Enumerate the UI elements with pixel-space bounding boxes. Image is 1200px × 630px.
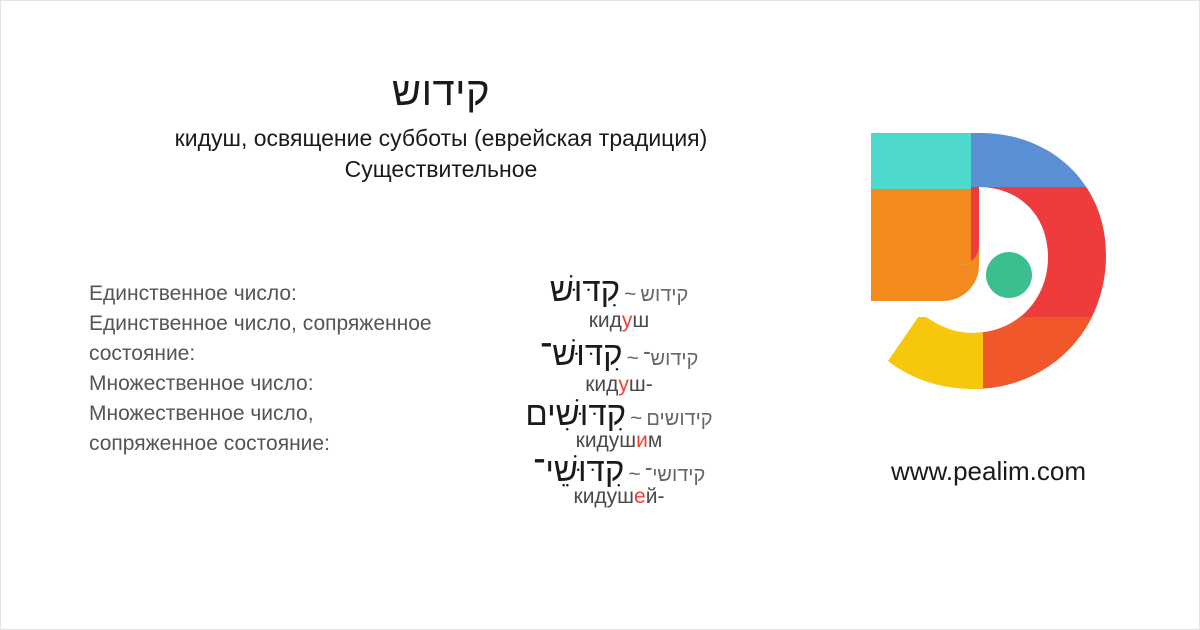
form-separator: ~ bbox=[624, 463, 644, 486]
form-separator: ~ bbox=[623, 347, 643, 370]
form-plain: קידושי־ bbox=[645, 464, 706, 486]
form-row-singular: קִדּוּשׁ~קידוש кидуш bbox=[439, 271, 799, 323]
card-header: קידוש кидуш, освящение субботы (еврейска… bbox=[121, 67, 761, 185]
translit-stressed-vowel: и bbox=[636, 429, 648, 452]
brand-url: www.pealim.com bbox=[846, 456, 1131, 487]
form-row-plural: קִדּוּשִׁים~קידושים кидушим bbox=[439, 395, 799, 457]
form-transliteration: кидушим bbox=[576, 429, 663, 452]
form-pointed: קִדּוּשׁ־ bbox=[540, 335, 623, 372]
translit-pre: кид bbox=[585, 373, 618, 396]
logo-segment-teal bbox=[863, 127, 971, 197]
translit-post: ш bbox=[632, 309, 649, 332]
page-title-hebrew: קידוש bbox=[121, 67, 761, 117]
form-transliteration: кидушей- bbox=[574, 485, 665, 508]
logo-dot-green bbox=[986, 252, 1032, 298]
translit-pre: кидуш bbox=[574, 485, 635, 508]
form-pointed: קִדּוּשֵׁי־ bbox=[533, 451, 625, 488]
form-transliteration: кидуш- bbox=[585, 373, 653, 396]
translit-post: й- bbox=[646, 485, 665, 508]
translit-pre: кидуш bbox=[576, 429, 637, 452]
form-plain: קידושים bbox=[646, 408, 712, 430]
translit-stressed-vowel: у bbox=[618, 373, 629, 396]
form-separator: ~ bbox=[626, 407, 646, 430]
form-plain: קידוש bbox=[640, 284, 688, 306]
form-transliteration: кидуш bbox=[589, 309, 650, 332]
part-of-speech: Существительное bbox=[121, 154, 761, 185]
translit-post: м bbox=[648, 429, 662, 452]
translit-stressed-vowel: е bbox=[634, 485, 646, 508]
logo-segment-yellow bbox=[863, 317, 983, 397]
form-label-plural-construct: Множественное число, сопряженное состоян… bbox=[89, 399, 439, 459]
translit-pre: кид bbox=[589, 309, 622, 332]
form-labels-column: Единственное число: Единственное число, … bbox=[89, 279, 439, 459]
form-plain: קידוש־ bbox=[643, 348, 699, 370]
translit-post: ш- bbox=[629, 373, 653, 396]
word-card: קידוש кидуш, освящение субботы (еврейска… bbox=[0, 0, 1200, 630]
form-label-plural: Множественное число: bbox=[89, 369, 439, 399]
form-label-singular-construct: Единственное число, сопряженное состояни… bbox=[89, 309, 439, 369]
translit-stressed-vowel: у bbox=[622, 309, 633, 332]
logo-segment-orange-red bbox=[971, 317, 1113, 397]
form-row-plural-construct: קִדּוּשֵׁי־~קידושי־ кидушей- bbox=[439, 451, 799, 521]
form-label-singular: Единственное число: bbox=[89, 279, 439, 309]
form-pointed: קִדּוּשׁ bbox=[550, 271, 620, 308]
word-meaning: кидуш, освящение субботы (еврейская трад… bbox=[121, 123, 761, 154]
form-pointed: קִדּוּשִׁים bbox=[525, 395, 626, 432]
pealim-logo-icon bbox=[863, 127, 1113, 397]
form-values-column: קִדּוּשׁ~קידוש кидуш קִדּוּשׁ־~קידוש־ ки… bbox=[439, 271, 799, 521]
form-row-singular-construct: קִדּוּשׁ־~קידוש־ кидуш- bbox=[439, 335, 799, 391]
form-separator: ~ bbox=[620, 283, 640, 306]
